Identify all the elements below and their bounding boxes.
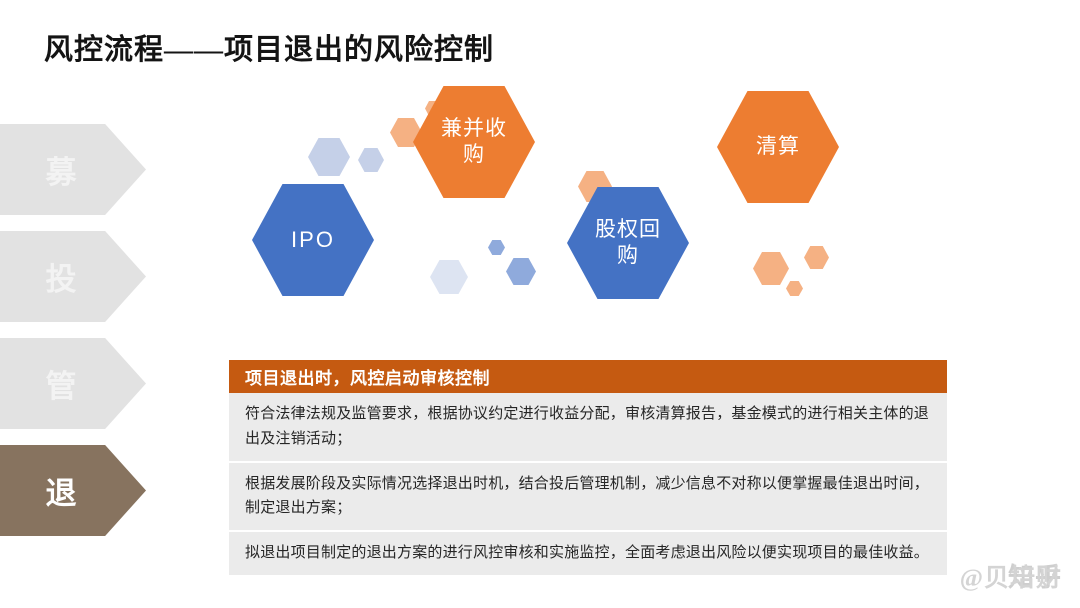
exit-option-label: 股权回购 xyxy=(590,217,666,268)
stage-chevron-label: 退 xyxy=(46,468,77,513)
page-title: 风控流程——项目退出的风险控制 xyxy=(44,26,494,68)
stage-chevron-label: 募 xyxy=(46,147,77,192)
exit-route-hexagon-cluster: IPO 兼并收购 股权回购 清算 xyxy=(230,78,910,308)
exit-option-ipo[interactable]: IPO xyxy=(252,184,374,296)
watermark: 知乎 @贝培财 xyxy=(1008,557,1062,594)
stage-chevron-tui[interactable]: 退 xyxy=(0,445,146,536)
stage-chevron-label: 管 xyxy=(46,361,77,406)
stage-chevron-tou[interactable]: 投 xyxy=(0,231,146,322)
stage-chevron-label: 投 xyxy=(46,254,77,299)
decorative-hexagon-icon xyxy=(804,246,829,269)
watermark-base-text: 知乎 xyxy=(1008,557,1062,594)
panel-header-title: 项目退出时，风控启动审核控制 xyxy=(245,364,490,389)
panel-row: 符合法律法规及监管要求，根据协议约定进行收益分配，审核清算报告，基金模式的进行相… xyxy=(229,393,947,463)
decorative-hexagon-icon xyxy=(753,252,789,285)
exit-option-liquidation[interactable]: 清算 xyxy=(717,91,839,203)
decorative-hexagon-icon xyxy=(488,240,505,255)
exit-option-label: IPO xyxy=(291,227,335,254)
decorative-hexagon-icon xyxy=(308,138,350,176)
exit-option-label: 兼并收购 xyxy=(436,116,512,167)
stage-chevron-guan[interactable]: 管 xyxy=(0,338,146,429)
decorative-hexagon-icon xyxy=(358,148,384,172)
panel-row: 拟退出项目制定的退出方案的进行风控审核和实施监控，全面考虑退出风险以便实现项目的… xyxy=(229,532,947,575)
decorative-hexagon-icon xyxy=(786,281,803,296)
decorative-hexagon-icon xyxy=(506,258,536,285)
panel-header: 项目退出时，风控启动审核控制 xyxy=(229,360,947,393)
exit-risk-control-panel: 项目退出时，风控启动审核控制 符合法律法规及监管要求，根据协议约定进行收益分配，… xyxy=(229,360,947,575)
exit-option-equity-buyback[interactable]: 股权回购 xyxy=(567,187,689,299)
stage-rail: 募 投 管 退 xyxy=(0,124,150,544)
decorative-hexagon-icon xyxy=(430,260,468,294)
watermark-overlay-text: @贝培财 xyxy=(960,558,1062,594)
panel-row: 根据发展阶段及实际情况选择退出时机，结合投后管理机制，减少信息不对称以便掌握最佳… xyxy=(229,463,947,533)
stage-chevron-mu[interactable]: 募 xyxy=(0,124,146,215)
exit-option-label: 清算 xyxy=(756,134,800,160)
slide-canvas: 风控流程——项目退出的风险控制 募 投 管 退 IPO xyxy=(0,0,1080,608)
